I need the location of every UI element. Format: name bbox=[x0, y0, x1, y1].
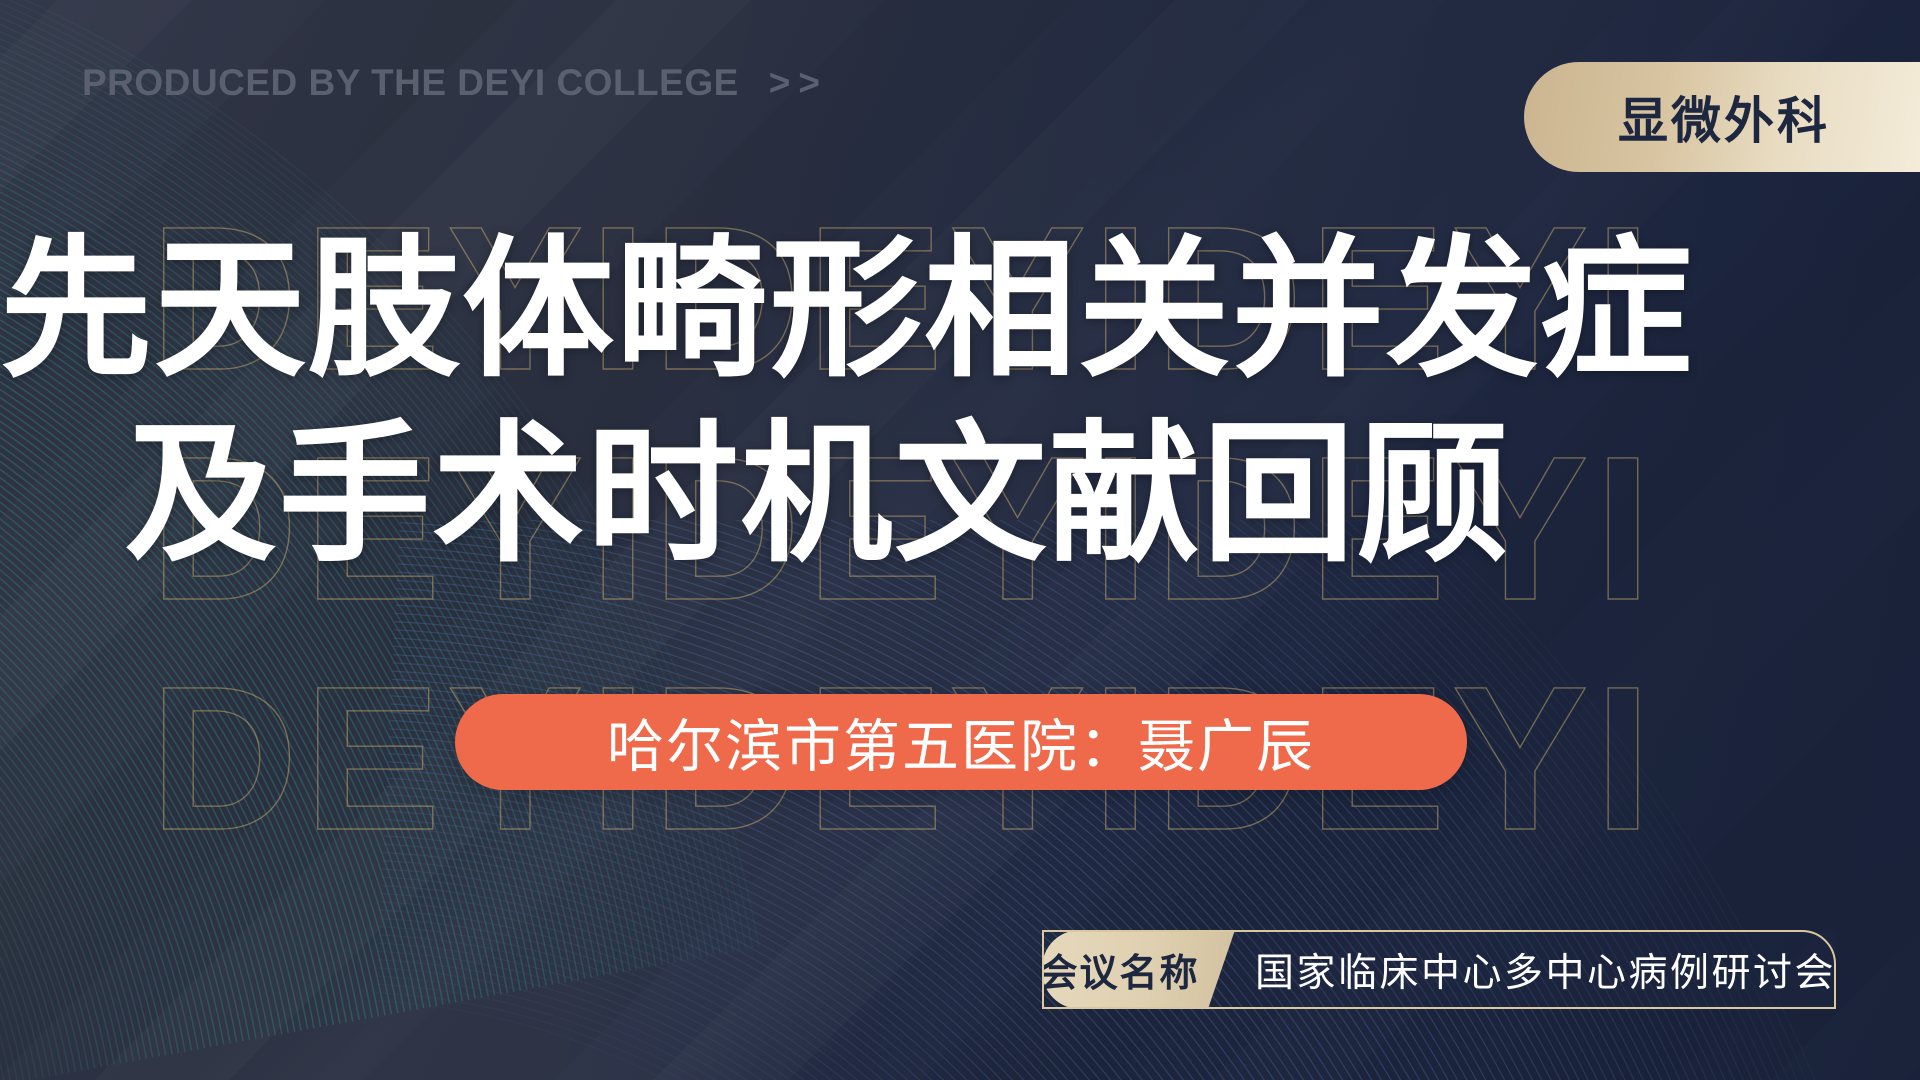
category-badge: 显微外科 bbox=[1524, 62, 1920, 172]
presenter-pill: 哈尔滨市第五医院：聂广辰 bbox=[455, 694, 1467, 790]
slide-canvas: DEYIDEYIDEYI DEYIDEYIDEYI DEYIDEYIDEYI P… bbox=[0, 0, 1920, 1080]
presenter-pill-label: 哈尔滨市第五医院：聂广辰 bbox=[607, 701, 1315, 783]
conference-bar: 会议名称 国家临床中心多中心病例研讨会 bbox=[1042, 930, 1836, 1009]
eyebrow: PRODUCED BY THE DEYI COLLEGE >> bbox=[82, 62, 828, 104]
page-title: 先天肢体畸形相关并发症 及手术时机文献回顾 bbox=[0, 218, 1635, 589]
category-badge-label: 显微外科 bbox=[1618, 81, 1830, 153]
eyebrow-text: PRODUCED BY THE DEYI COLLEGE bbox=[82, 62, 739, 104]
conference-name-panel: 国家临床中心多中心病例研讨会 bbox=[1235, 930, 1836, 1009]
conference-tag: 会议名称 bbox=[1042, 930, 1235, 1009]
title-line-2: 及手术时机文献回顾 bbox=[0, 403, 1635, 588]
title-line-1: 先天肢体畸形相关并发症 bbox=[0, 218, 1635, 403]
conference-tag-label: 会议名称 bbox=[1039, 942, 1199, 997]
double-chevron-right-icon: >> bbox=[769, 62, 828, 104]
conference-name-label: 国家临床中心多中心病例研讨会 bbox=[1255, 942, 1836, 998]
